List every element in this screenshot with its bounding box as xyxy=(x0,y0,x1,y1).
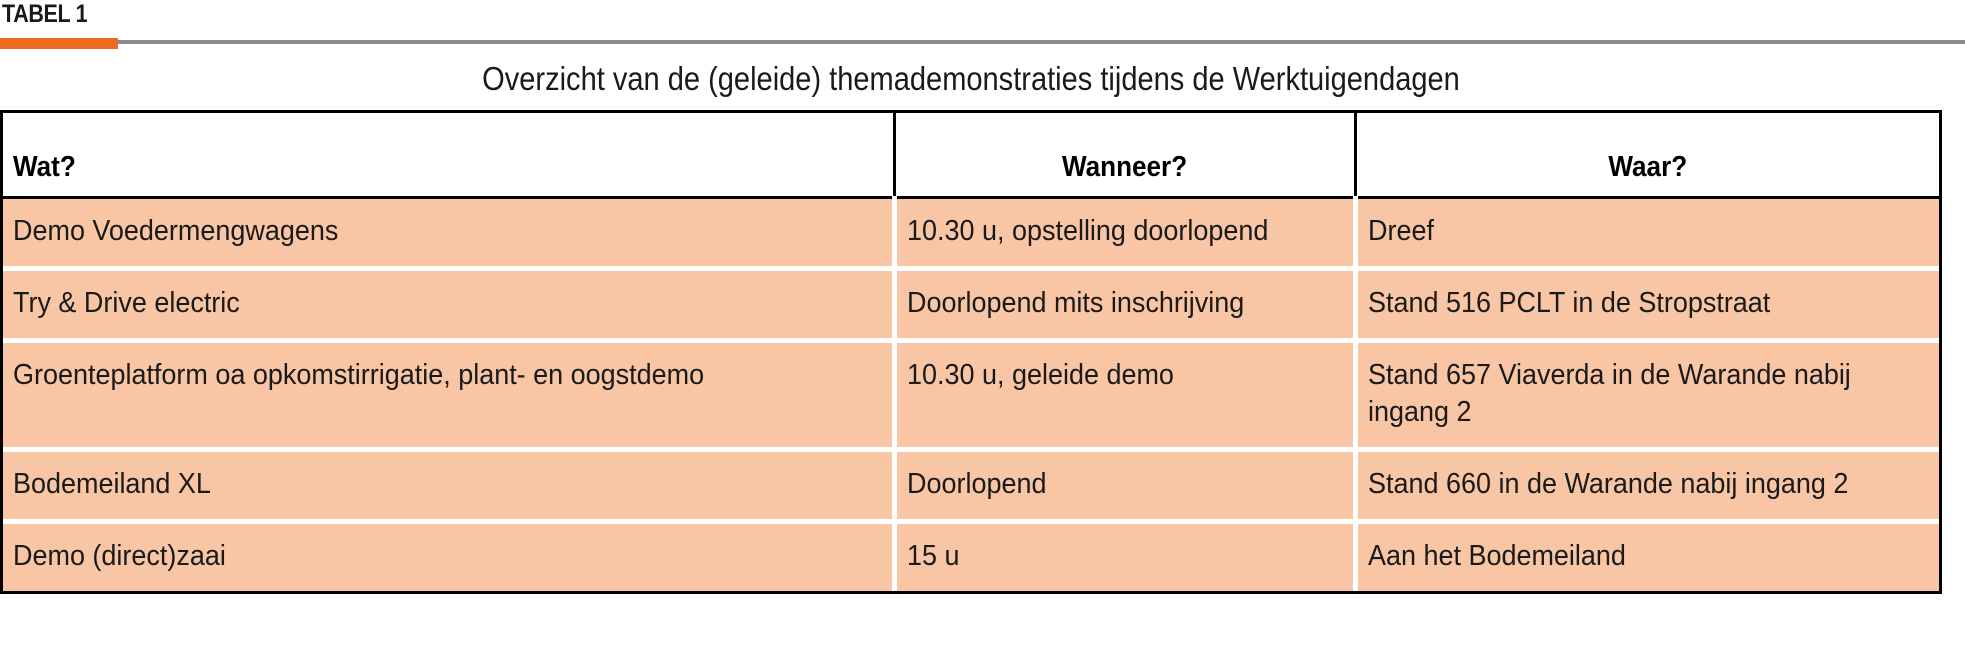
cell-wanneer-text: 15 u xyxy=(907,538,1312,575)
cell-wat: Demo (direct)zaai xyxy=(3,521,894,591)
table-label: TABEL 1 xyxy=(2,0,87,30)
cell-waar: Stand 516 PCLT in de Stropstraat xyxy=(1355,268,1939,340)
table-row: Demo (direct)zaai 15 u Aan het Bodemeila… xyxy=(3,521,1939,591)
table-page: TABEL 1 Overzicht van de (geleide) thema… xyxy=(0,0,1965,669)
cell-wanneer: 10.30 u, opstelling doorlopend xyxy=(894,197,1355,268)
cell-wanneer-text: Doorlopend xyxy=(907,466,1312,503)
horizontal-rule-gray xyxy=(0,40,1965,44)
cell-wat-text: Bodemeiland XL xyxy=(13,466,821,503)
table-row: Try & Drive electric Doorlopend mits ins… xyxy=(3,268,1939,340)
cell-wat-text: Groenteplatform oa opkomstirrigatie, pla… xyxy=(13,357,821,394)
cell-wat: Groenteplatform oa opkomstirrigatie, pla… xyxy=(3,340,894,449)
table-body: Demo Voedermengwagens 10.30 u, opstellin… xyxy=(3,197,1939,591)
cell-wat: Demo Voedermengwagens xyxy=(3,197,894,268)
table-caption: Overzicht van de (geleide) themademonstr… xyxy=(117,50,1826,108)
cell-wat-text: Try & Drive electric xyxy=(13,285,821,322)
table-row: Groenteplatform oa opkomstirrigatie, pla… xyxy=(3,340,1939,449)
demo-table-container: Wat? Wanneer? Waar? Demo Voedermengwagen… xyxy=(0,110,1942,594)
cell-wanneer-text: 10.30 u, geleide demo xyxy=(907,357,1312,394)
cell-waar-text: Stand 516 PCLT in de Stropstraat xyxy=(1368,285,1890,322)
column-header-wat-label: Wat? xyxy=(13,151,76,184)
column-header-wat: Wat? xyxy=(3,113,894,197)
table-header: Wat? Wanneer? Waar? xyxy=(3,113,1939,197)
table-row: Bodemeiland XL Doorlopend Stand 660 in d… xyxy=(3,449,1939,521)
cell-wanneer: 15 u xyxy=(894,521,1355,591)
cell-wat-text: Demo Voedermengwagens xyxy=(13,213,821,250)
cell-wat-text: Demo (direct)zaai xyxy=(13,538,821,575)
table-row: Demo Voedermengwagens 10.30 u, opstellin… xyxy=(3,197,1939,268)
cell-waar-text: Dreef xyxy=(1368,213,1890,250)
column-header-wanneer: Wanneer? xyxy=(894,113,1355,197)
cell-wat: Bodemeiland XL xyxy=(3,449,894,521)
table-header-row: Wat? Wanneer? Waar? xyxy=(3,113,1939,197)
cell-waar-text: Aan het Bodemeiland xyxy=(1368,538,1890,575)
cell-waar-text: Stand 657 Viaverda in de Warande nabij i… xyxy=(1368,357,1890,431)
column-header-wanneer-label: Wanneer? xyxy=(1062,151,1187,184)
cell-waar: Aan het Bodemeiland xyxy=(1355,521,1939,591)
column-header-waar-label: Waar? xyxy=(1608,151,1687,184)
cell-waar: Stand 660 in de Warande nabij ingang 2 xyxy=(1355,449,1939,521)
cell-wanneer-text: 10.30 u, opstelling doorlopend xyxy=(907,213,1312,250)
cell-waar: Stand 657 Viaverda in de Warande nabij i… xyxy=(1355,340,1939,449)
table-label-bar: TABEL 1 xyxy=(0,0,1965,47)
cell-waar-text: Stand 660 in de Warande nabij ingang 2 xyxy=(1368,466,1890,503)
cell-waar: Dreef xyxy=(1355,197,1939,268)
column-header-waar: Waar? xyxy=(1355,113,1939,197)
accent-bar-orange xyxy=(0,38,118,49)
cell-wat: Try & Drive electric xyxy=(3,268,894,340)
demo-table: Wat? Wanneer? Waar? Demo Voedermengwagen… xyxy=(3,113,1939,591)
cell-wanneer-text: Doorlopend mits inschrijving xyxy=(907,285,1312,322)
cell-wanneer: 10.30 u, geleide demo xyxy=(894,340,1355,449)
cell-wanneer: Doorlopend mits inschrijving xyxy=(894,268,1355,340)
cell-wanneer: Doorlopend xyxy=(894,449,1355,521)
